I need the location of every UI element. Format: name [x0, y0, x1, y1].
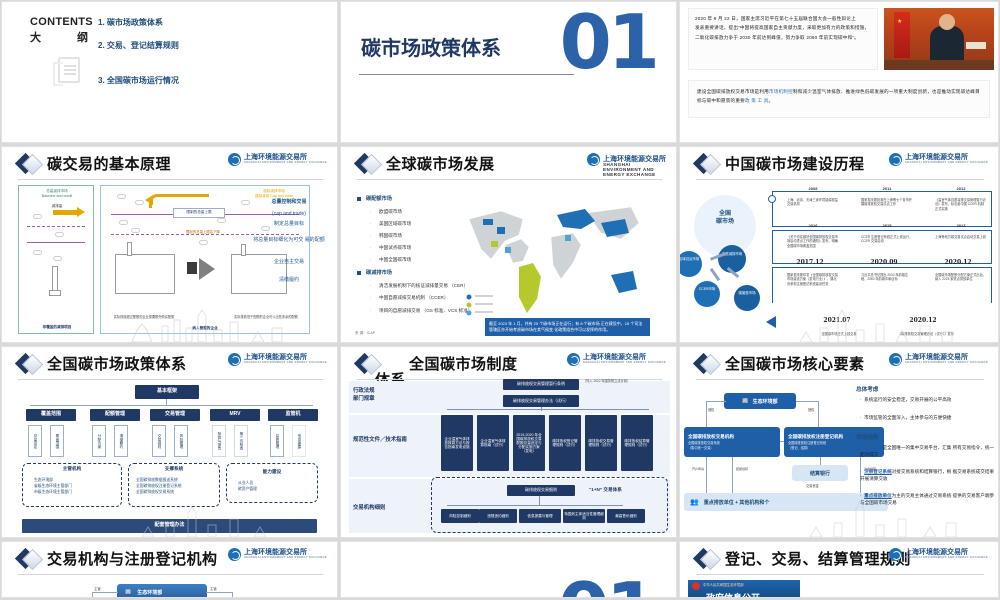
slide-carbon-trading-principle[interactable]: 碳交易的基本原理 上海环境能源交易所SHANGHAI ENVIRONMENT A…	[2, 147, 337, 342]
logo-mark-icon	[889, 353, 902, 366]
slide-cell-history[interactable]: 中国碳市场建设历程 上海环境能源交易所SHANGHAI ENVIRONMENT …	[678, 145, 1000, 345]
org-sub: SHANGHAI ENVIRONMENT AND ENERGY EXCHANGE	[905, 162, 988, 165]
map-callout: 截至 2023 年 1 月，共有 25 个碳市场正在运行；有 8 个碳市场 正在…	[485, 318, 650, 336]
leaf-2-2: 清缴履约	[114, 425, 128, 457]
title-divider	[696, 179, 984, 180]
bullet-1: 总量控制和交易	[247, 199, 331, 207]
timeline-year-7: 2017.12	[783, 259, 837, 266]
leaf-4-2: 第三方核查	[234, 425, 248, 457]
slide-body: 行政法规 部门规章 规范性文件／技术指南 交易机构细则 碳排放权交易管理暂行条例…	[341, 377, 676, 537]
rule-box-5: 最高售价细则	[607, 509, 645, 523]
org-logo: 上海环境能源交易所SHANGHAI ENVIRONMENT AND ENERGY…	[567, 353, 666, 366]
title-divider	[18, 379, 323, 380]
gov-site-title: 政府信息公开	[706, 591, 760, 597]
leaf-3-1: 交易规则	[152, 425, 166, 457]
leaf-2-1: 分配方案	[92, 425, 106, 457]
slide-header: 登记、交易、结算管理规则 上海环境能源交易所SHANGHAI ENVIRONME…	[680, 542, 998, 572]
cap-limit-box: 限制的总量上限	[173, 208, 225, 218]
org-sub: SHANGHAI ENVIRONMENT AND ENERGY EXCHANGE	[603, 163, 666, 177]
node-trading-institution-sub: 全国碳排放权交易系统 （集中统一交易）	[688, 440, 720, 450]
node-label-regional: 区域试点市场	[680, 257, 702, 261]
cap-trend-label: 限制的总量上限会下降	[163, 229, 243, 234]
slide-cell-contents[interactable]: CONTENTS 大 纲 1. 碳市场政策体系 2. 交易、登记结算规则 3. …	[0, 0, 339, 145]
org-sub: SHANGHAI ENVIRONMENT AND ENERGY EXCHANGE	[244, 557, 327, 560]
quote-paragraph-2: 发表重要讲话，提出“中国将提高国家自主贡献力度，采取更加有力的政策和措施，二氧化…	[695, 23, 871, 42]
logo-mark-icon	[228, 153, 241, 166]
logo-mark-icon	[889, 153, 902, 166]
logo-mark-icon	[567, 353, 580, 366]
diamond-bullet-icon	[18, 354, 42, 378]
page-title: 中国碳市场建设历程	[725, 153, 865, 174]
baseline-label: 总量减排市场Baseline and credit	[23, 189, 91, 198]
org-name: 上海环境能源交易所SHANGHAI ENVIRONMENT AND ENERGY…	[583, 354, 666, 364]
q3-highlight-2: 政 策 工 具	[745, 98, 769, 103]
page-title: 交易机构与注册登记机构	[47, 548, 218, 569]
root-node: 基本框架	[135, 385, 199, 399]
diamond-bullet-icon	[696, 154, 720, 178]
node-regional	[680, 251, 702, 277]
node-ministry-label: 生态环境部	[753, 398, 778, 405]
row-label-3: 交易机构细则	[353, 503, 385, 511]
group1-item-4: 中国试点碳市场	[379, 245, 411, 251]
pillar-1: 覆盖范围	[26, 409, 76, 421]
skyline-watermark	[2, 495, 337, 537]
group-title-2: 碳减排市场	[366, 269, 392, 276]
national-emblem-icon	[692, 582, 700, 590]
quote-paragraph-1: 2020 年 9 月 22 日，国家主席习近平在第七十五届联合国大会一般性辩论上	[695, 14, 871, 23]
slide-cell-global[interactable]: 全球碳市场发展 上海环境能源交易所SHANGHAI ENVIRONMENT AN…	[339, 145, 678, 345]
row-label-2: 规范性文件／技术指南	[353, 437, 433, 445]
heading-overall: 总体考虑	[856, 385, 878, 393]
slide-body: 碳配额市场 ·欧盟碳市场 ·美国区域碳市场 ·韩国碳市场 ·中国试点碳市场 ·中…	[341, 181, 676, 342]
slide-header: 交易机构与注册登记机构 上海环境能源交易所SHANGHAI ENVIRONMEN…	[2, 542, 337, 572]
title-divider	[357, 179, 662, 180]
org-name: 上海环境能源交易所SHANGHAI ENVIRONMENT AND ENERGY…	[905, 549, 988, 559]
overall-item-2: · 市场监管的全面深入，主体参与的方便快捷	[860, 415, 996, 422]
timeline-year-3: 2012	[934, 186, 988, 191]
slide-thumbnail-grid: CONTENTS 大 纲 1. 碳市场政策体系 2. 交易、登记结算规则 3. …	[0, 0, 1000, 600]
slide-header: 全国碳市场制度 体系 上海环境能源交易所SHANGHAI ENVIRONMENT…	[341, 347, 676, 377]
slide-market-institution-system[interactable]: 全国碳市场制度 体系 上海环境能源交易所SHANGHAI ENVIRONMENT…	[341, 347, 676, 537]
gb3-item-2: 碳资产管理	[238, 486, 257, 492]
leaf-5-2: 信息披露	[292, 425, 306, 457]
slide-cell-core-elements[interactable]: 全国碳市场核心要素 上海环境能源交易所SHANGHAI ENVIRONMENT …	[678, 345, 1000, 540]
pillar-2: 配额管理	[90, 409, 140, 421]
org-sub: SHANGHAI ENVIRONMENT AND ENERGY EXCHANGE	[905, 557, 988, 560]
page-title: 全国碳市场制度	[409, 353, 518, 374]
slide-cell-trading-registry[interactable]: 交易机构与注册登记机构 上海环境能源交易所SHANGHAI ENVIRONMEN…	[0, 540, 339, 600]
slide-cell-institution-system[interactable]: 全国碳市场制度 体系 上海环境能源交易所SHANGHAI ENVIRONMENT…	[339, 345, 678, 540]
title-divider	[696, 574, 984, 575]
quote-box-top: 2020 年 9 月 22 日，国家主席习近平在第七十五届联合国大会一般性辩论上…	[688, 8, 878, 70]
timeline-text-9: 全国碳市场配额分配方案正式出台，纳入 2225 家重点排放单位	[935, 273, 987, 282]
node-label-inclusive: 碳普惠市场	[734, 291, 760, 295]
node-settlement-bank: 结算银行	[792, 465, 848, 481]
doc-box-2: 企业温室气体核算指南（试行）	[477, 415, 509, 471]
quote-paragraph-3: 建设全国碳排放权交易市场是利用市场机制控制和减少温室气体排放、推进绿色低碳发展的…	[697, 87, 981, 106]
top-regulation-box: 碳排放权交易管理暂行条例	[503, 379, 579, 390]
diamond-bullet-icon	[357, 154, 381, 178]
page-title: 全国碳市场政策体系	[47, 353, 187, 374]
page-title: 全球碳市场发展	[386, 153, 495, 174]
org-logo: 上海环境能源交易所SHANGHAI ENVIRONMENT AND ENERGY…	[228, 153, 327, 166]
slide-china-carbon-market-history[interactable]: 中国碳市场建设历程 上海环境能源交易所SHANGHAI ENVIRONMENT …	[680, 147, 998, 342]
group1-item-3: 韩国碳市场	[379, 233, 402, 239]
node-ministry-label: 生态环境部	[137, 589, 162, 596]
rule-root-box: 碳排放权交易细则	[507, 485, 575, 496]
row-label-1: 行政法规 部门规章	[353, 387, 375, 403]
edge-label-right: 授权	[808, 407, 814, 412]
contents-heading-en: CONTENTS	[30, 16, 93, 28]
slide-global-carbon-market[interactable]: 全球碳市场发展 上海环境能源交易所SHANGHAI ENVIRONMENT AN…	[341, 147, 676, 342]
node-label-ccer: CCER市场	[694, 287, 720, 291]
timeline-year-2: 2011	[860, 186, 914, 191]
quote-box-bottom: 建设全国碳排放权交易市场是利用市场机制控制和减少温室气体排放、推进绿色低碳发展的…	[688, 80, 990, 118]
contents-heading-cn-left: 大	[30, 29, 41, 45]
edge-label-share: 数据共享	[758, 436, 770, 440]
contents-item-1[interactable]: 1. 碳市场政策体系	[98, 18, 186, 29]
org-name: 上海环境能源交易所SHANGHAI ENVIRONMENT AND ENERGY…	[905, 354, 988, 364]
node-ministry: 🏢 生态环境部	[724, 393, 796, 409]
edge-label-apply: 配额划转	[736, 467, 748, 471]
group2-item-2: 中国自愿减排交易机制 （CCER）	[379, 295, 448, 301]
slide-contents[interactable]: CONTENTS 大 纲 1. 碳市场政策体系 2. 交易、登记结算规则 3. …	[2, 2, 337, 142]
title-divider	[18, 179, 323, 180]
slide-header: 中国碳市场建设历程 上海环境能源交易所SHANGHAI ENVIRONMENT …	[680, 147, 998, 177]
org-logo: 上海环境能源交易所SHANGHAI ENVIRONMENT AND ENERGY…	[587, 153, 666, 166]
slide-rules[interactable]: 登记、交易、结算管理规则 上海环境能源交易所SHANGHAI ENVIRONME…	[680, 542, 998, 597]
slide-core-elements[interactable]: 全国碳市场核心要素 上海环境能源交易所SHANGHAI ENVIRONMENT …	[680, 347, 998, 537]
hub-label: 全国碳市场	[700, 211, 750, 227]
pillar-4: MRV	[210, 409, 260, 421]
slide-national-policy-system[interactable]: 全国碳市场政策体系 上海环境能源交易所SHANGHAI ENVIRONMENT …	[2, 347, 337, 537]
org-logo: 上海环境能源交易所SHANGHAI ENVIRONMENT AND ENERGY…	[889, 548, 988, 561]
china-flag-icon	[894, 12, 910, 58]
diamond-bullet-icon	[18, 549, 42, 573]
leader-photo	[884, 8, 994, 70]
title-divider	[696, 379, 984, 380]
edge-label-funds: 交易资金	[806, 483, 819, 488]
org-sub: SHANGHAI ENVIRONMENT AND ENERGY EXCHANGE	[244, 162, 327, 165]
group-title-1: 碳配额市场	[366, 195, 392, 202]
contents-heading-cn-right: 纲	[77, 29, 88, 45]
org-logo: 上海环境能源交易所SHANGHAI ENVIRONMENT AND ENERGY…	[228, 353, 327, 366]
group-box-1-title: 主管机构	[22, 466, 122, 472]
bullet-5: 企业自主交易	[247, 259, 331, 267]
timeline-text-6: 上海等地方碳交易试点启动交易上线	[935, 235, 987, 239]
group2-item-1: 清洁发展机制下的核证减排量交易 （CER）	[379, 283, 468, 289]
name-plate	[966, 42, 986, 49]
bullet-3: 制定总量目标	[247, 221, 331, 229]
building-icon: 🏢	[742, 398, 748, 404]
slide-header: 碳交易的基本原理 上海环境能源交易所SHANGHAI ENVIRONMENT A…	[2, 147, 337, 177]
overall-item-1: · 系统运行的安全稳定，交易开展的公平高效	[860, 397, 996, 404]
node-registry-institution-sub: 全国碳排放权注册登记系统 （登记、结算）	[788, 440, 826, 450]
org-sub: SHANGHAI ENVIRONMENT AND ENERGY EXCHANGE	[583, 362, 666, 365]
rule-box-1: 风险控制细则	[441, 509, 479, 523]
doc-box-6: 碳排放权结算管理规则（试行）	[621, 415, 653, 471]
slide-cell-rules[interactable]: 登记、交易、结算管理规则 上海环境能源交易所SHANGHAI ENVIRONME…	[678, 540, 1000, 600]
slide-cell-policy-system[interactable]: 全国碳市场政策体系 上海环境能源交易所SHANGHAI ENVIRONMENT …	[0, 345, 339, 540]
slide-section-01[interactable]: 碳市场政策体系 01	[341, 2, 676, 142]
leaf-1-2: 覆盖范围	[50, 425, 64, 457]
slide-header: 全国碳市场政策体系 上海环境能源交易所SHANGHAI ENVIRONMENT …	[2, 347, 337, 377]
slide-body: 🏢 生态环境部 主管 主管	[2, 576, 337, 597]
group1-item-2: 美国区域碳市场	[379, 221, 411, 227]
org-logo: 上海环境能源交易所SHANGHAI ENVIRONMENT AND ENERGY…	[889, 153, 988, 166]
slide-cell-quote[interactable]: 2020 年 9 月 22 日，国家主席习近平在第七十五届联合国大会一般性辩论上…	[678, 0, 1000, 145]
logo-mark-icon	[889, 548, 902, 561]
bullet-2: (cap and trade)	[247, 211, 331, 219]
logo-mark-icon	[228, 548, 241, 561]
document-icon	[58, 57, 80, 83]
group-box-1-items: 生态环境部 省级生态环境主管部门 市级生态环境主管部门	[34, 477, 72, 495]
timeline-year-8: 2020.09	[857, 259, 911, 266]
group-box-2-title: 支撑系统	[128, 466, 220, 472]
node-ministry: 🏢 生态环境部	[117, 584, 207, 597]
org-sub: SHANGHAI ENVIRONMENT AND ENERGY EXCHANGE	[905, 362, 988, 365]
contents-item-2[interactable]: 2. 交易、登记结算规则	[98, 41, 186, 52]
timeline-year-6: 2013	[934, 223, 988, 228]
rule-box-3: 信息披露与管理	[519, 509, 561, 523]
second-regulation-box: 碳排放权交易管理办法（试行）	[503, 395, 579, 407]
structure-item-2: · 注册登记系统对接交易系统和结算银行，根 据交易系统成交结果开展清算交收	[860, 469, 998, 482]
timeline-year-4: 2016	[786, 223, 840, 228]
slide-cell-section-01[interactable]: 碳市场政策体系 01	[339, 0, 678, 145]
leaf-1-1: 总量设定	[28, 425, 42, 457]
slide-quote[interactable]: 2020 年 9 月 22 日，国家主席习近平在第七十五届联合国大会一般性辩论上…	[680, 2, 998, 142]
slide-header: 全球碳市场发展 上海环境能源交易所SHANGHAI ENVIRONMENT AN…	[341, 147, 676, 177]
q3c: 。	[769, 98, 774, 103]
structure-item-1: · 交易系统是全国唯一的集中交易平台，汇集 所有交易指令，统一配对成交	[860, 445, 998, 458]
timeline-text-2: 国家发改委批准在上海等七个省市开展碳排放权交易试点工作	[861, 198, 913, 207]
world-map	[461, 189, 646, 324]
group-marker-2	[357, 271, 361, 275]
org-name: 上海环境能源交易所SHANGHAI ENVIRONMENT AND ENERGY…	[244, 354, 327, 364]
logo-mark-icon	[228, 353, 241, 366]
timeline-text-1: 上海、北京、天津三家环境能源权益交易机构	[787, 198, 839, 207]
pillar-5: 监管机	[268, 409, 318, 421]
building-icon: 🏢	[125, 589, 131, 595]
title-divider	[18, 574, 323, 575]
org-name: 上海环境能源交易所SHANGHAI ENVIRONMENT AND ENERGY…	[244, 154, 327, 164]
org-logo: 上海环境能源交易所SHANGHAI ENVIRONMENT AND ENERGY…	[228, 548, 327, 561]
section-rule	[359, 74, 574, 75]
group-box-3-items: 从业人员 碳资产管理	[238, 480, 257, 492]
bullet-6: 清缴履约	[247, 277, 331, 285]
rule-box-4: 特国划主体适当性管理细则	[563, 509, 605, 523]
doc-box-4: 碳排放权登记管理规则（试行）	[549, 415, 581, 471]
slide-trading-and-registry[interactable]: 交易机构与注册登记机构 上海环境能源交易所SHANGHAI ENVIRONMEN…	[2, 542, 337, 597]
rule-note: “1+N” 交易体系	[589, 487, 622, 493]
section-number: 01	[560, 2, 656, 86]
desk	[884, 60, 994, 70]
cap-trade-label: 强制减排市场强制减排 Cap and trade	[243, 189, 305, 199]
org-logo: 上海环境能源交易所SHANGHAI ENVIRONMENT AND ENERGY…	[889, 353, 988, 366]
doc-box-1: 企业温室气体排放核算方法与报告指南发电设施	[441, 415, 473, 471]
leaf-5-1: 监督管理	[270, 425, 284, 457]
leaf-4-1: 核算与报告	[212, 425, 226, 457]
q3a: 建设全国碳排放权交易市场是利用	[697, 89, 769, 94]
org-name: 上海环境能源交易所SHANGHAI ENVIRONMENT AND ENERGY…	[905, 154, 988, 164]
logo-mark-icon	[587, 153, 600, 166]
timeline-text-4: 《关于切实做好全国碳排放权交易市场启动重点工作的通知》发布，明确全国碳市场覆盖范…	[787, 235, 839, 248]
timeline-text-7: 国家发改委印发《全国碳排放权交易市场建设方案（发电行业）》，湖北省承担注册登记系…	[787, 273, 839, 286]
edge-label-left: 授权	[708, 407, 714, 412]
slide-cell-section-01-b[interactable]: 01	[339, 540, 678, 600]
timeline-text-3: 《温室气体自愿减排交易管理暂行办法》发布，标志着中国 CCER 机制正式实施	[935, 198, 987, 211]
pillar-3: 交易管理	[150, 409, 200, 421]
edge-label-right: 主管	[210, 586, 217, 591]
diamond-bullet-icon	[18, 154, 42, 178]
group-marker-1	[357, 197, 361, 201]
contents-item-3[interactable]: 3. 全国碳市场运行情况	[98, 76, 186, 87]
leaf-3-2: 风险管理	[174, 425, 188, 457]
skyline-watermark	[680, 300, 998, 342]
timeline-year-5: 2015	[860, 223, 914, 228]
skyline-watermark	[2, 300, 337, 342]
group2-item-3: 项目的自愿减排交易 （GS 标准、VCS 标准）	[379, 308, 472, 314]
org-sub: SHANGHAI ENVIRONMENT AND ENERGY EXCHANGE	[244, 362, 327, 365]
edge-label-left: 主管	[94, 586, 101, 591]
gov-site-org: 中华人民共和国生态环境部	[703, 582, 744, 587]
doc-box-5: 碳排放权交易管理规则（试行）	[585, 415, 617, 471]
timeline-year-1: 2008	[786, 186, 840, 191]
contents-heading-cn: 大 纲	[30, 29, 88, 45]
top-regulation-note: （列入 2022 年国务院立法计划）	[583, 379, 647, 383]
page-title: 全国碳市场核心要素	[725, 353, 865, 374]
node-trading-institution: 全国碳排放权交易机构 全国碳排放权交易系统 （集中统一交易）	[684, 427, 780, 457]
gov-site-screenshot: 中华人民共和国生态环境部 政府信息公开	[688, 580, 800, 597]
group-box-2-items: 全国碳排放数据报送系统 全国碳排放权注册登记系统 全国碳排放权交易系统	[136, 477, 182, 495]
group1-item-5: 中国全国碳市场	[379, 257, 411, 263]
slide-section-01-b[interactable]: 01	[341, 542, 676, 597]
page-title: 碳交易的基本原理	[47, 153, 171, 174]
section-title: 碳市场政策体系	[361, 32, 501, 61]
edge-label-open: 开户申请	[692, 467, 704, 471]
org-name: 上海环境能源交易所SHANGHAI ENVIRONMENT AND ENERGY…	[244, 549, 327, 559]
timeline-text-5: CCER 注册登记系统正式上线运行，CCER 交易启动	[861, 235, 913, 244]
group1-item-1: 欧盟碳市场	[379, 209, 402, 215]
section-number: 01	[558, 566, 654, 597]
q3-highlight-1: 市场机制控	[769, 89, 793, 94]
page-title: 登记、交易、结算管理规则	[725, 548, 911, 569]
diamond-bullet-icon	[696, 354, 720, 378]
rule-box-2: 违规违约细则	[479, 509, 517, 523]
heading-structure: 市场结构	[856, 433, 878, 441]
timeline-text-8: 习近平总书记提出 2030 年前碳达峰、2060 年前碳中和目标	[861, 273, 913, 282]
bullet-4: 将总量目标细化为可交 易的配额	[247, 237, 331, 245]
slide-header: 全国碳市场核心要素 上海环境能源交易所SHANGHAI ENVIRONMENT …	[680, 347, 998, 377]
timeline-year-9: 2020.12	[931, 259, 985, 266]
group-box-3-title: 能力建设	[226, 469, 318, 475]
org-name: 上海环境能源交易所SHANGHAI ENVIRONMENT AND ENERGY…	[603, 156, 666, 163]
diamond-bullet-icon	[696, 549, 720, 573]
doc-box-3: 2019-2020 年全国碳排放权交易配额总量设定与分配实施方案（发电）	[513, 415, 545, 471]
source-note: 来 源：ICAP	[355, 331, 375, 336]
slide-cell-principle[interactable]: 碳交易的基本原理 上海环境能源交易所SHANGHAI ENVIRONMENT A…	[0, 145, 339, 345]
skyline-watermark	[680, 495, 998, 537]
timeline-start-dot	[768, 195, 776, 203]
